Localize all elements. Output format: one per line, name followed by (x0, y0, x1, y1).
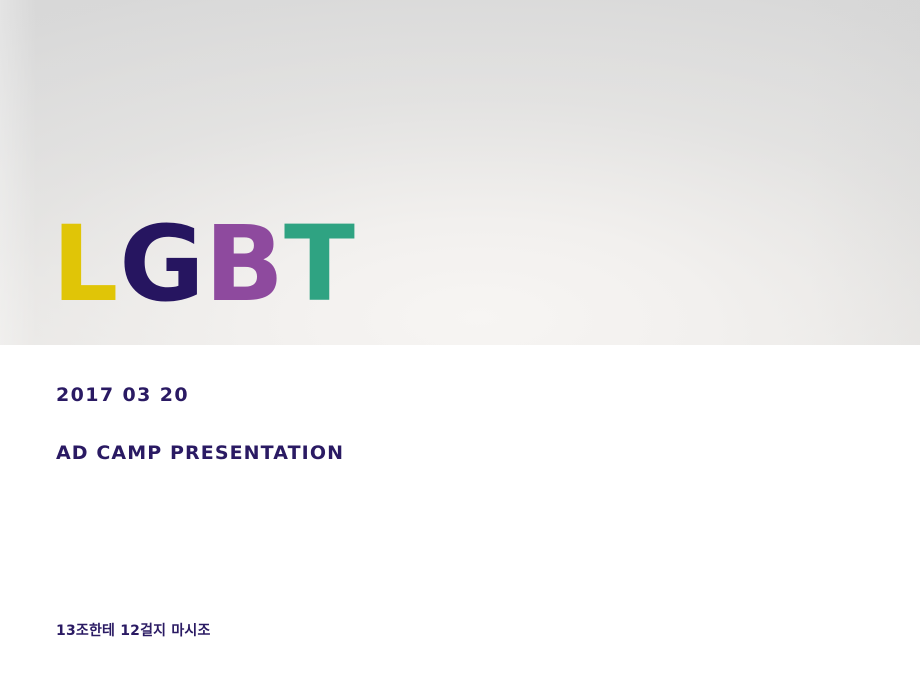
slide-meta-block: 2017 03 20 AD CAMP PRESENTATION (56, 384, 616, 464)
presentation-date: 2017 03 20 (56, 384, 616, 406)
wordmark-letter-t: T (284, 212, 354, 316)
wordmark-letter-g: G (119, 212, 203, 316)
slide-footnote: 13조한테 12걸지 마시조 (56, 620, 211, 640)
presentation-subtitle: AD CAMP PRESENTATION (56, 442, 616, 464)
lgbt-wordmark: LGBT (52, 212, 354, 316)
presentation-title-slide: LGBT 2017 03 20 AD CAMP PRESENTATION 13조… (0, 0, 920, 690)
wordmark-letter-b: B (205, 212, 283, 316)
wordmark-letter-l: L (52, 212, 117, 316)
